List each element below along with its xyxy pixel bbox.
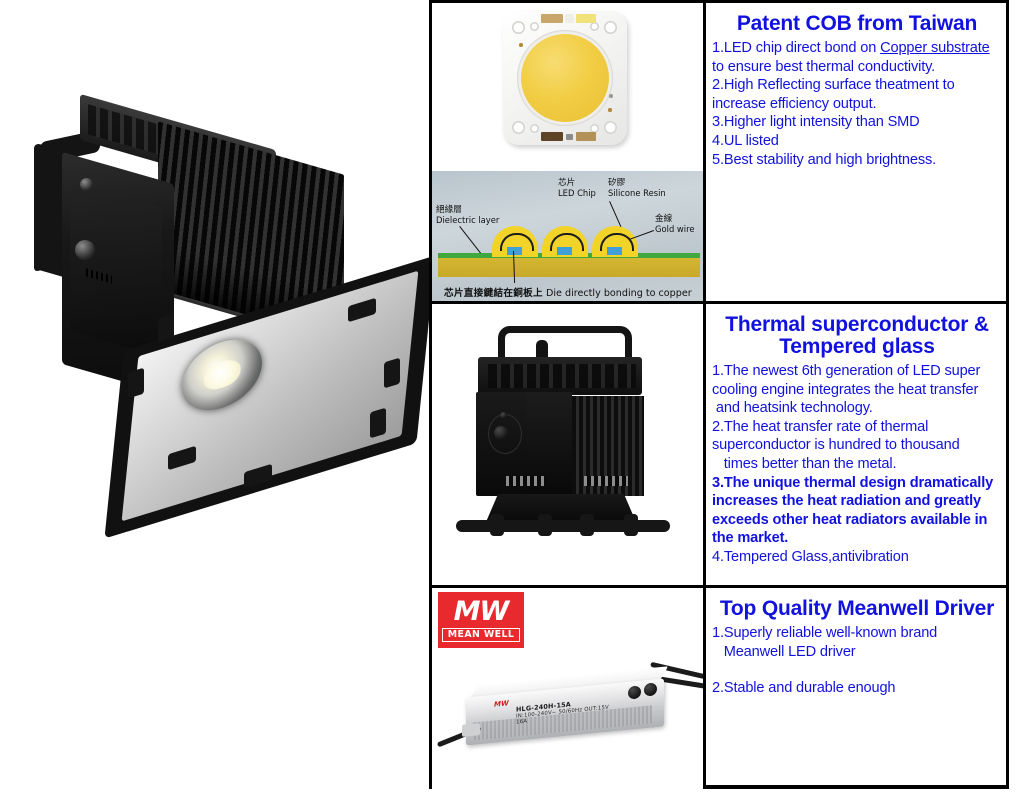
feature-text-cell-driver: Top Quality Meanwell Driver 1.Superly re…: [706, 588, 1006, 789]
feature-image-cell-thermal: [432, 304, 706, 585]
cob-chip-phosphor: [521, 34, 609, 122]
feature-line: the market.: [712, 529, 1002, 548]
led-die-2: [557, 247, 572, 255]
contact-pad-top-left: [541, 14, 563, 23]
label-led-chip-en: LED Chip: [558, 189, 596, 199]
feature-title-cob: Patent COB from Taiwan: [710, 11, 1004, 36]
vent-slots-right: [584, 476, 628, 486]
contact-pad-top-right: [576, 14, 596, 23]
mount-base-plate: [486, 494, 636, 522]
hero-photo-pane: [0, 0, 429, 795]
housing-side-panel: [70, 181, 162, 357]
feature-sheet-page: 絕緣層 Dielectric layer 芯片 LED Chip 矽膠 Sili…: [0, 0, 1016, 795]
contact-pad-top-mid: [565, 14, 574, 23]
led-floodlight-hero-photo: [18, 120, 418, 520]
feature-text-cell-thermal: Thermal superconductor & Tempered glass …: [706, 304, 1006, 585]
marker-dot-right: [608, 108, 612, 112]
feature-line-spacer: [712, 661, 1002, 679]
feature-line: 1.The newest 6th generation of LED super: [712, 362, 1002, 381]
cable-gland-knob: [75, 240, 95, 260]
label-silicone-resin: 矽膠 Silicone Resin: [608, 179, 666, 198]
mount-hole-br: [604, 121, 617, 134]
frame-clip-left: [128, 368, 144, 399]
leader-silicone: [609, 201, 621, 227]
feature-line: 3.Higher light intensity than SMD: [712, 113, 1002, 132]
feature-title-driver: Top Quality Meanwell Driver: [710, 596, 1004, 621]
feature-line: 4.Tempered Glass,antivibration: [712, 548, 1002, 567]
cob-chip-substrate: [503, 11, 627, 145]
feature-line: Meanwell LED driver: [712, 643, 1002, 662]
feature-line: exceeds other heat radiators available i…: [712, 511, 1002, 530]
feature-body-thermal: 1.The newest 6th generation of LED super…: [710, 362, 1004, 567]
base-foot-1: [490, 514, 504, 536]
mount-hole-tr2: [590, 22, 599, 31]
frame-clip-right: [384, 358, 400, 389]
adjust-bolt: [500, 412, 507, 419]
cob-crosssection-diagram: 絕緣層 Dielectric layer 芯片 LED Chip 矽膠 Sili…: [432, 171, 706, 301]
feature-line: cooling engine integrates the heat trans…: [712, 381, 1002, 400]
contact-pad-bottom-mid: [566, 134, 573, 140]
contact-pad-bottom-left: [541, 132, 563, 141]
feature-line: 2.The heat transfer rate of thermal: [712, 418, 1002, 437]
meanwell-logo-wordmark: MEAN WELL: [442, 628, 520, 643]
feature-line: 3.The unique thermal design dramatically: [712, 474, 1002, 493]
feature-line: 1.Superly reliable well-known brand: [712, 624, 1002, 643]
meanwell-driver-photo: MW HLG-240H-15A IN:100-240V~ 50/60Hz OUT…: [432, 650, 706, 785]
feature-image-cell-cob: 絕緣層 Dielectric layer 芯片 LED Chip 矽膠 Sili…: [432, 3, 706, 301]
cob-lens-emitter: [204, 356, 241, 394]
meanwell-logo: MW MEAN WELL: [438, 592, 524, 648]
feature-line: 2.Stable and durable enough: [712, 679, 1002, 698]
top-crossbar-ribs: [488, 364, 636, 388]
mount-hole-tr: [604, 21, 617, 34]
marker-dot-left: [519, 43, 523, 47]
base-foot-3: [580, 514, 594, 536]
meanwell-logo-mark: MW: [454, 598, 509, 625]
feature-body-driver: 1.Superly reliable well-known brand Mean…: [710, 624, 1004, 698]
base-foot-4: [624, 514, 638, 536]
led-die-1: [507, 247, 522, 255]
marker-dot-right2: [609, 94, 613, 98]
pivot-bolt: [80, 178, 93, 191]
crosssection-caption-en: Die directly bonding to copper: [546, 288, 692, 299]
feature-image-cell-driver: MW MEAN WELL MW HLG-240H-15A IN:100-240V…: [432, 588, 706, 789]
mount-hole-bl: [512, 121, 525, 134]
base-foot-2: [538, 514, 552, 536]
feature-line: 1.LED chip direct bond on Copper substra…: [712, 39, 1002, 58]
feature-line: to ensure best thermal conductivity.: [712, 58, 1002, 77]
contact-pad-bottom-right: [576, 132, 596, 141]
label-led-chip: 芯片 LED Chip: [558, 179, 596, 198]
crosssection-caption: 芯片直接鍵結在銅板上 Die directly bonding to coppe…: [444, 285, 692, 299]
label-gold-wire: 金線 Gold wire: [655, 215, 695, 234]
crosssection-caption-cn: 芯片直接鍵結在銅板上: [444, 288, 543, 299]
driver-brand-mark: MW: [494, 699, 509, 708]
driver-gland-input: [462, 723, 480, 737]
label-gold-wire-en: Gold wire: [655, 225, 695, 235]
feature-title-thermal-line2: Tempered glass: [710, 334, 1004, 359]
feature-row-driver: MW MEAN WELL MW HLG-240H-15A IN:100-240V…: [432, 588, 1006, 789]
feature-line: 4.UL listed: [712, 132, 1002, 151]
feature-line: 2.High Reflecting surface theatment to: [712, 76, 1002, 95]
feature-line: and heatsink technology.: [712, 399, 1002, 418]
tilt-scale-arc: [488, 414, 522, 454]
label-dielectric-layer: 絕緣層 Dielectric layer: [436, 206, 499, 225]
vent-slots-left: [506, 476, 546, 486]
label-silicone-en: Silicone Resin: [608, 189, 666, 199]
feature-line: increase efficiency output.: [712, 95, 1002, 114]
feature-table: 絕緣層 Dielectric layer 芯片 LED Chip 矽膠 Sili…: [429, 0, 1009, 789]
copper-substrate-layer: [438, 257, 700, 277]
feature-text-cell-cob: Patent COB from Taiwan 1.LED chip direct…: [706, 3, 1006, 301]
mount-hole-tl2: [530, 22, 539, 31]
feature-line: 5.Best stability and high brightness.: [712, 151, 1002, 170]
led-floodlight-back-photo: [432, 304, 706, 585]
feature-line: times better than the metal.: [712, 455, 1002, 474]
mount-hole-tl: [512, 21, 525, 34]
feature-body-cob: 1.LED chip direct bond on Copper substra…: [710, 39, 1004, 169]
feature-line: increases the heat radiation and greatly: [712, 492, 1002, 511]
leader-dielectric: [459, 226, 481, 254]
frame-clip-top-left: [158, 314, 174, 343]
feature-line: superconductor is hundred to thousand: [712, 436, 1002, 455]
cob-chip-photo: [432, 3, 706, 171]
label-dielectric-en: Dielectric layer: [436, 216, 499, 226]
frame-clip-right-lower: [370, 408, 386, 439]
feature-row-thermal: Thermal superconductor & Tempered glass …: [432, 304, 1006, 588]
led-die-3: [607, 247, 622, 255]
mount-hole-bl2: [530, 124, 539, 133]
feature-row-cob: 絕緣層 Dielectric layer 芯片 LED Chip 矽膠 Sili…: [432, 3, 1006, 304]
